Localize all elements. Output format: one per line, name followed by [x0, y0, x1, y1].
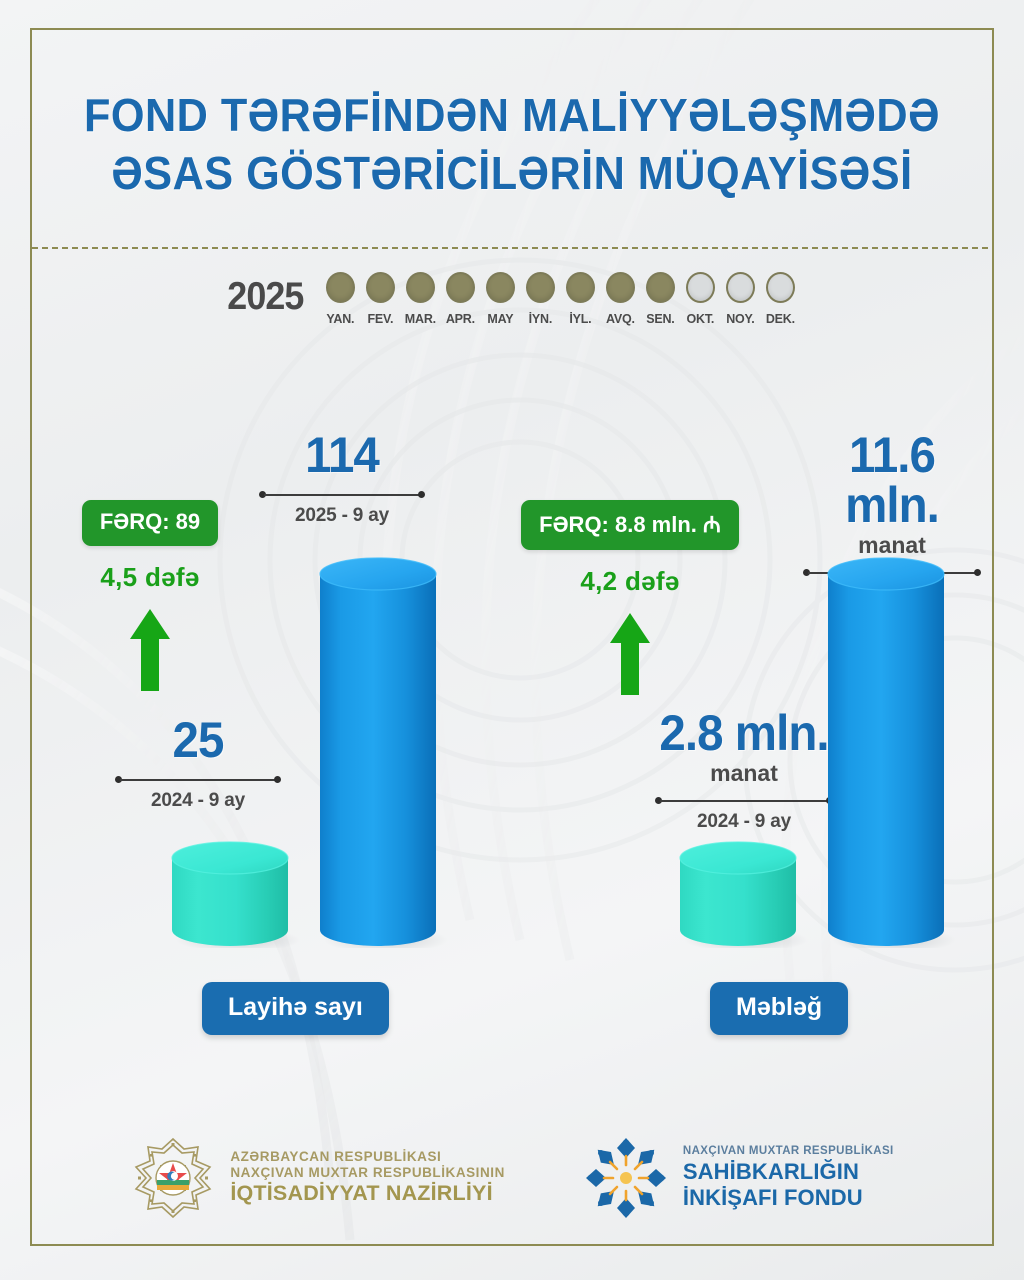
measure-bar	[120, 779, 276, 781]
month-label: YAN.	[326, 312, 354, 326]
value-label-2024-left: 25 2024 - 9 ay	[114, 715, 282, 812]
value-label-2025-left: 114 2025 - 9 ay	[258, 430, 426, 527]
month-indicator-yan: YAN.	[320, 272, 360, 326]
month-label: OKT.	[687, 312, 715, 326]
month-dot-icon	[646, 272, 675, 303]
month-label: SEN.	[646, 312, 674, 326]
ministry-line-3: İQTİSADİYYAT NAZİRLİYİ	[230, 1181, 505, 1206]
month-indicator-avq: AVQ.	[600, 272, 640, 326]
bar-cylinder-2025-left	[314, 548, 454, 948]
value-label-2024-right: 2.8 mln. manat 2024 - 9 ay	[654, 708, 834, 833]
delta-block-right: FƏRQ: 8.8 mln. ₼ 4,2 dəfə	[512, 500, 748, 697]
month-dot-icon	[486, 272, 515, 303]
value-number: 25	[118, 715, 278, 765]
month-dot-icon	[606, 272, 635, 303]
month-label: NOY.	[726, 312, 754, 326]
title-line-2: ƏSAS GÖSTƏRİCİLƏRİN MÜQAYİSƏSİ	[31, 144, 994, 202]
month-dot-icon	[766, 272, 795, 303]
month-dot-icon	[326, 272, 355, 303]
month-dot-icon	[686, 272, 715, 303]
difference-badge: FƏRQ: 8.8 mln. ₼	[521, 500, 739, 550]
header-divider	[32, 247, 992, 249]
value-unit: manat	[654, 760, 834, 786]
fund-line-2: SAHİBKARLIĞIN	[683, 1159, 894, 1185]
measure-bar	[660, 800, 828, 802]
month-indicator-okt: OKT.	[680, 272, 720, 326]
month-indicator-mar: MAR.	[400, 272, 440, 326]
month-indicator-sen: SEN.	[640, 272, 680, 326]
month-label: MAY	[487, 312, 513, 326]
month-indicator-iyn: İYN.	[520, 272, 560, 326]
month-label: İYL.	[569, 312, 591, 326]
multiplier-label: 4,5 dəfə	[60, 562, 240, 593]
ministry-logo-text: AZƏRBAYCAN RESPUBLİKASI NAXÇIVAN MUXTAR …	[230, 1149, 505, 1206]
difference-badge: FƏRQ: 89	[82, 500, 218, 546]
title-line-1: FOND TƏRƏFİNDƏN MALİYYƏLƏŞMƏDƏ	[31, 86, 994, 144]
month-indicator-noy: NOY.	[720, 272, 760, 326]
month-label: MAR.	[405, 312, 436, 326]
ministry-line-2: NAXÇIVAN MUXTAR RESPUBLİKASININ	[230, 1165, 505, 1181]
period-label: 2024 - 9 ay	[654, 811, 834, 833]
multiplier-label: 4,2 dəfə	[512, 566, 748, 597]
month-indicator-fev: FEV.	[360, 272, 400, 326]
logo-ministry-of-economy: AZƏRBAYCAN RESPUBLİKASI NAXÇIVAN MUXTAR …	[130, 1135, 505, 1221]
month-dot-icon	[366, 272, 395, 303]
month-label: DEK.	[766, 312, 795, 326]
month-indicator-iyl: İYL.	[560, 272, 600, 326]
measure-line	[654, 795, 834, 807]
chart-panel-amount: FƏRQ: 8.8 mln. ₼ 4,2 dəfə 11.6 mln. mana…	[512, 420, 1012, 1060]
up-arrow-icon	[128, 607, 172, 693]
page-title: FOND TƏRƏFİNDƏN MALİYYƏLƏŞMƏDƏ ƏSAS GÖST…	[31, 86, 994, 202]
month-dot-icon	[526, 272, 555, 303]
bar-cylinder-2024-right	[674, 832, 814, 948]
fund-logo-text: NAXÇIVAN MUXTAR RESPUBLİKASI SAHİBKARLIĞ…	[683, 1145, 894, 1210]
fund-star-icon	[583, 1135, 669, 1221]
delta-block-left: FƏRQ: 89 4,5 dəfə	[60, 500, 240, 693]
measure-cap-right-icon	[418, 491, 425, 498]
month-label: FEV.	[367, 312, 393, 326]
bar-cylinder-2025-right	[822, 548, 962, 948]
month-indicator-may: MAY	[480, 272, 520, 326]
timeline-strip: 2025 YAN. FEV. MAR. APR. MAY İYN. İYL.	[0, 272, 1024, 326]
logo-entrepreneurship-fund: NAXÇIVAN MUXTAR RESPUBLİKASI SAHİBKARLIĞ…	[583, 1135, 894, 1221]
value-number: 2.8 mln.	[659, 708, 830, 758]
month-dot-icon	[566, 272, 595, 303]
value-number: 114	[262, 430, 422, 480]
month-label: APR.	[446, 312, 475, 326]
month-dot-icon	[406, 272, 435, 303]
up-arrow-icon	[608, 611, 652, 697]
ministry-emblem-icon	[130, 1135, 216, 1221]
measure-cap-right-icon	[274, 776, 281, 783]
ministry-line-1: AZƏRBAYCAN RESPUBLİKASI	[230, 1149, 505, 1165]
category-chip-mebleg: Məbləğ	[710, 982, 848, 1035]
month-dot-icon	[726, 272, 755, 303]
month-label: AVQ.	[606, 312, 635, 326]
value-number: 11.6 mln.	[807, 430, 978, 530]
footer-logos: AZƏRBAYCAN RESPUBLİKASI NAXÇIVAN MUXTAR …	[0, 1118, 1024, 1238]
fund-line-1: NAXÇIVAN MUXTAR RESPUBLİKASI	[683, 1145, 894, 1159]
month-indicator-list: YAN. FEV. MAR. APR. MAY İYN. İYL. AVQ.	[320, 272, 800, 326]
measure-line	[114, 774, 282, 786]
fund-line-3: İNKİŞAFI FONDU	[683, 1185, 894, 1211]
month-indicator-dek: DEK.	[760, 272, 800, 326]
month-dot-icon	[446, 272, 475, 303]
month-label: İYN.	[529, 312, 553, 326]
timeline-year: 2025	[227, 277, 303, 317]
measure-cap-right-icon	[974, 569, 981, 576]
period-label: 2024 - 9 ay	[114, 790, 282, 812]
category-chip-layihe-sayi: Layihə sayı	[202, 982, 389, 1035]
bar-cylinder-2024-left	[166, 832, 306, 948]
chart-panel-project-count: FƏRQ: 89 4,5 dəfə 114 2025 - 9 ay 25 202…	[12, 420, 512, 1060]
month-indicator-apr: APR.	[440, 272, 480, 326]
measure-line	[258, 489, 426, 501]
period-label: 2025 - 9 ay	[258, 505, 426, 527]
measure-bar	[264, 494, 420, 496]
